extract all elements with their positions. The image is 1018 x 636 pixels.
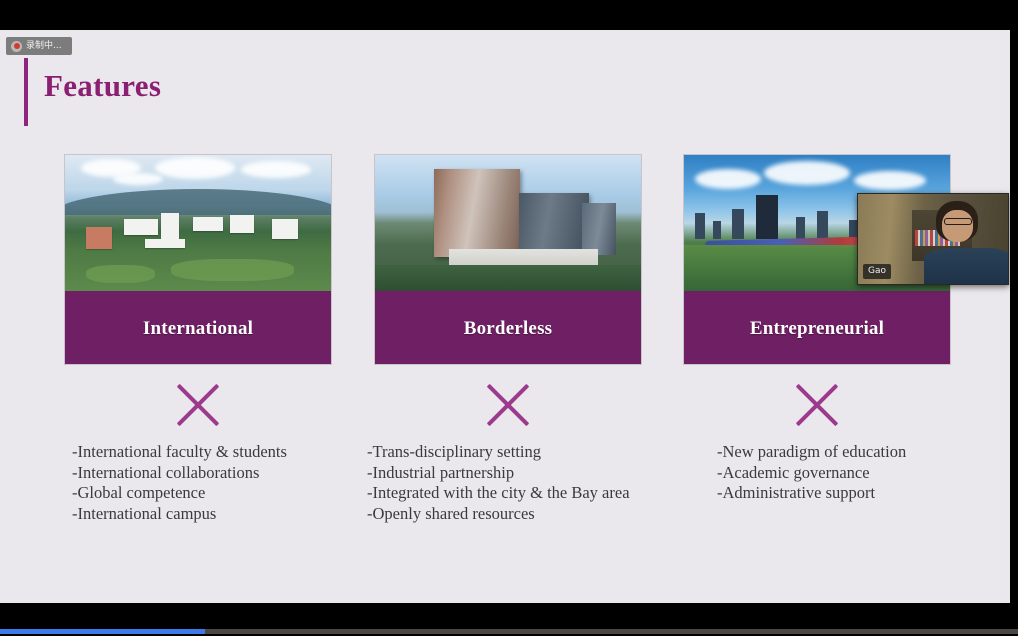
feature-card: Borderless bbox=[374, 154, 642, 365]
bullet-column: -International faculty & students -Inter… bbox=[72, 442, 372, 524]
page-title: Features bbox=[44, 68, 161, 104]
bullet-item: -International campus bbox=[72, 504, 372, 525]
bullet-item: -New paradigm of education bbox=[717, 442, 1007, 463]
x-mark-icon bbox=[175, 382, 221, 428]
feature-card-banner: Borderless bbox=[375, 291, 641, 365]
feature-card-label: Borderless bbox=[464, 318, 553, 340]
feature-card-banner: Entrepreneurial bbox=[684, 291, 950, 365]
bullet-item: -Administrative support bbox=[717, 483, 1007, 504]
bullet-column: -New paradigm of education -Academic gov… bbox=[717, 442, 1007, 504]
feature-card: International bbox=[64, 154, 332, 365]
bullet-item: -International faculty & students bbox=[72, 442, 372, 463]
recording-badge-label: 录制中... bbox=[26, 42, 62, 51]
x-mark-icon bbox=[794, 382, 840, 428]
record-dot-icon bbox=[11, 41, 22, 52]
letterbox-right bbox=[1010, 0, 1018, 636]
letterbox-top bbox=[0, 0, 1018, 30]
feature-card-label: International bbox=[143, 318, 253, 340]
bullet-column: -Trans-disciplinary setting -Industrial … bbox=[367, 442, 667, 524]
bullet-item: -Academic governance bbox=[717, 463, 1007, 484]
x-mark-icon bbox=[485, 382, 531, 428]
modern-building-render bbox=[375, 155, 641, 291]
bullet-item: -Trans-disciplinary setting bbox=[367, 442, 667, 463]
feature-card-banner: International bbox=[65, 291, 331, 365]
playback-progress-fill[interactable] bbox=[0, 629, 205, 634]
participant-name-label: Gao bbox=[863, 264, 891, 279]
presentation-slide: 录制中... Features bbox=[0, 30, 1010, 603]
title-accent-bar bbox=[24, 58, 28, 126]
bullet-item: -Global competence bbox=[72, 483, 372, 504]
video-player-screen: 录制中... Features bbox=[0, 0, 1018, 636]
webcam-overlay[interactable]: Gao bbox=[857, 193, 1009, 285]
bullet-item: -Integrated with the city & the Bay area bbox=[367, 483, 667, 504]
separator-row bbox=[0, 382, 1010, 432]
bullet-item: -Industrial partnership bbox=[367, 463, 667, 484]
feature-card-label: Entrepreneurial bbox=[750, 318, 884, 340]
recording-badge: 录制中... bbox=[6, 37, 72, 55]
bullet-item: -Openly shared resources bbox=[367, 504, 667, 525]
bullet-item: -International collaborations bbox=[72, 463, 372, 484]
aerial-campus-photo bbox=[65, 155, 331, 291]
